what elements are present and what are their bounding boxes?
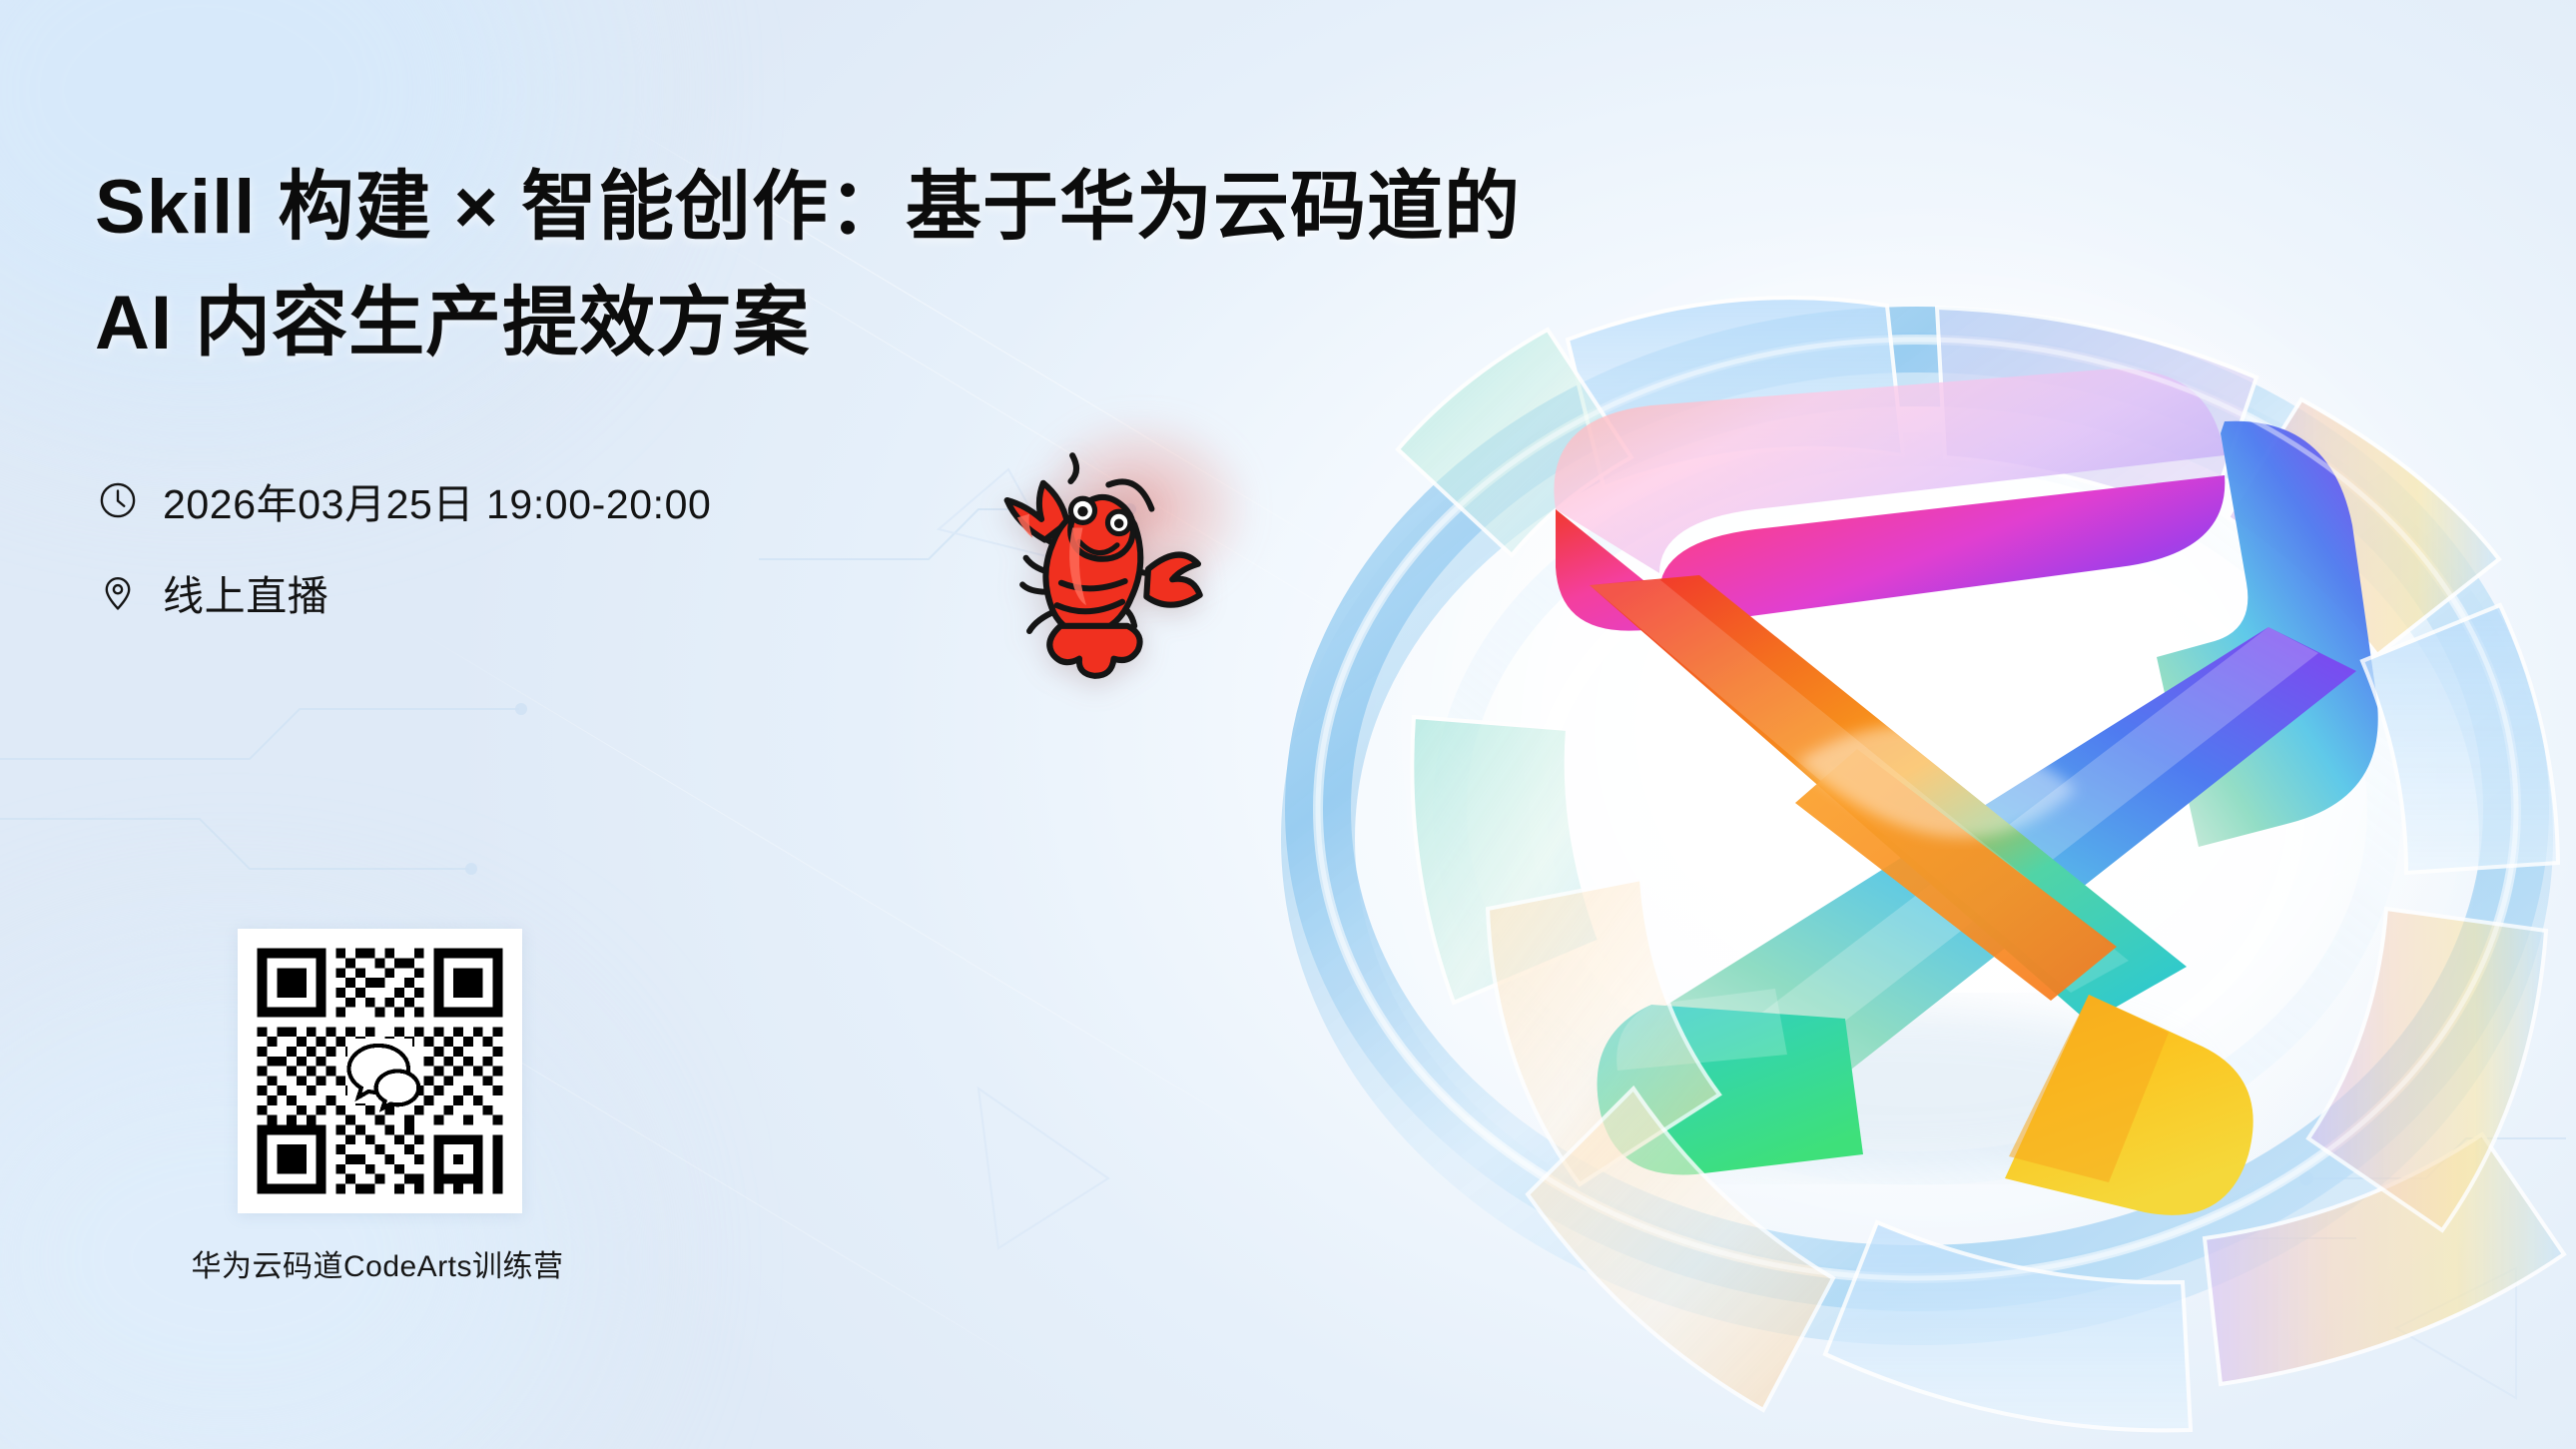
location-pin-icon	[95, 569, 141, 615]
qr-code-matrix	[238, 929, 522, 1213]
qr-code[interactable]	[238, 929, 522, 1213]
codearts-3d-ribbon-graphic	[1238, 150, 2576, 1448]
qr-caption: 华为云码道CodeArts训练营	[148, 1241, 607, 1285]
lobster-sticker	[973, 431, 1223, 681]
event-location-text: 线上直播	[163, 562, 328, 622]
event-banner: Skill 构建 × 智能创作：基于华为云码道的 AI 内容生产提效方案 202…	[0, 0, 2576, 1449]
qr-block: 华为云码道CodeArts训练营	[238, 929, 607, 1285]
page-title-line1: Skill 构建 × 智能创作：基于华为云码道的	[95, 150, 1423, 266]
page-title-line2: AI 内容生产提效方案	[95, 266, 1423, 381]
event-datetime-text: 2026年03月25日 19:00-20:00	[163, 470, 711, 530]
wechat-chat-icon	[347, 1039, 418, 1108]
clock-icon	[95, 477, 141, 523]
